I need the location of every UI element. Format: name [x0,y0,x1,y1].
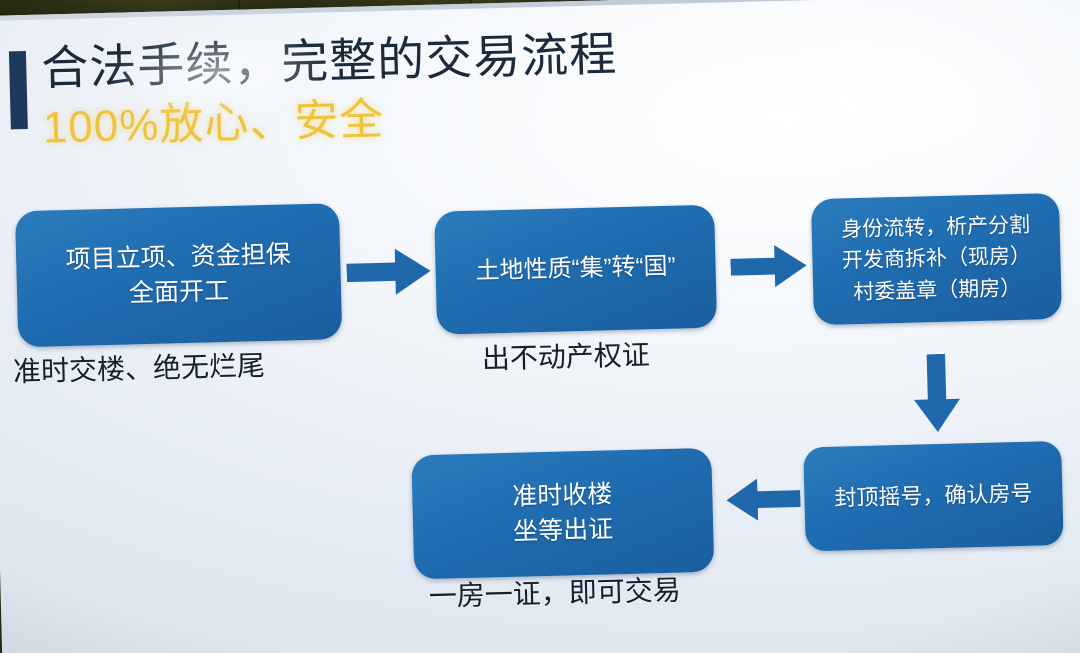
title-accent-bar [9,51,28,129]
flow-box-label: 身份流转，析产分割 开发商拆补（现房） 村委盖章（期房） [831,209,1042,309]
flow-box-identity-transfer: 身份流转，析产分割 开发商拆补（现房） 村委盖章（期房） [811,193,1062,325]
flow-box-project-approval: 项目立项、资金担保 全面开工 [15,203,342,347]
flow-box-handover-certificate: 准时收楼 坐等出证 [411,448,714,580]
flow-box-label: 准时收楼 坐等出证 [502,477,624,551]
flow-box-label: 封顶摇号，确认房号 [824,478,1043,515]
flow-box-lottery-unit-number: 封顶摇号，确认房号 [803,441,1064,551]
caption-one-house-one-certificate: 一房一证，即可交易 [428,569,681,615]
page-title: 合法手续，完整的交易流程 [41,29,618,94]
arrow-right-icon [346,248,431,296]
caption-property-certificate: 出不动产权证 [481,333,650,377]
arrow-left-icon [726,478,801,522]
flow-box-label: 土地性质“集”转“国” [465,250,686,290]
caption-on-time-delivery: 准时交楼、绝无烂尾 [12,344,265,390]
flow-box-land-conversion: 土地性质“集”转“国” [434,205,717,335]
arrow-right-icon [730,244,807,288]
presentation-photo: 合法手续，完整的交易流程 100%放心、安全 项目立项、资金担保 全面开工 土地… [0,0,1080,653]
projected-slide: 合法手续，完整的交易流程 100%放心、安全 项目立项、资金担保 全面开工 土地… [0,0,1080,653]
arrow-down-icon [913,353,961,432]
page-subtitle: 100%放心、安全 [42,96,385,152]
slide-content: 合法手续，完整的交易流程 100%放心、安全 项目立项、资金担保 全面开工 土地… [0,0,1080,653]
flow-box-label: 项目立项、资金担保 全面开工 [55,237,302,314]
